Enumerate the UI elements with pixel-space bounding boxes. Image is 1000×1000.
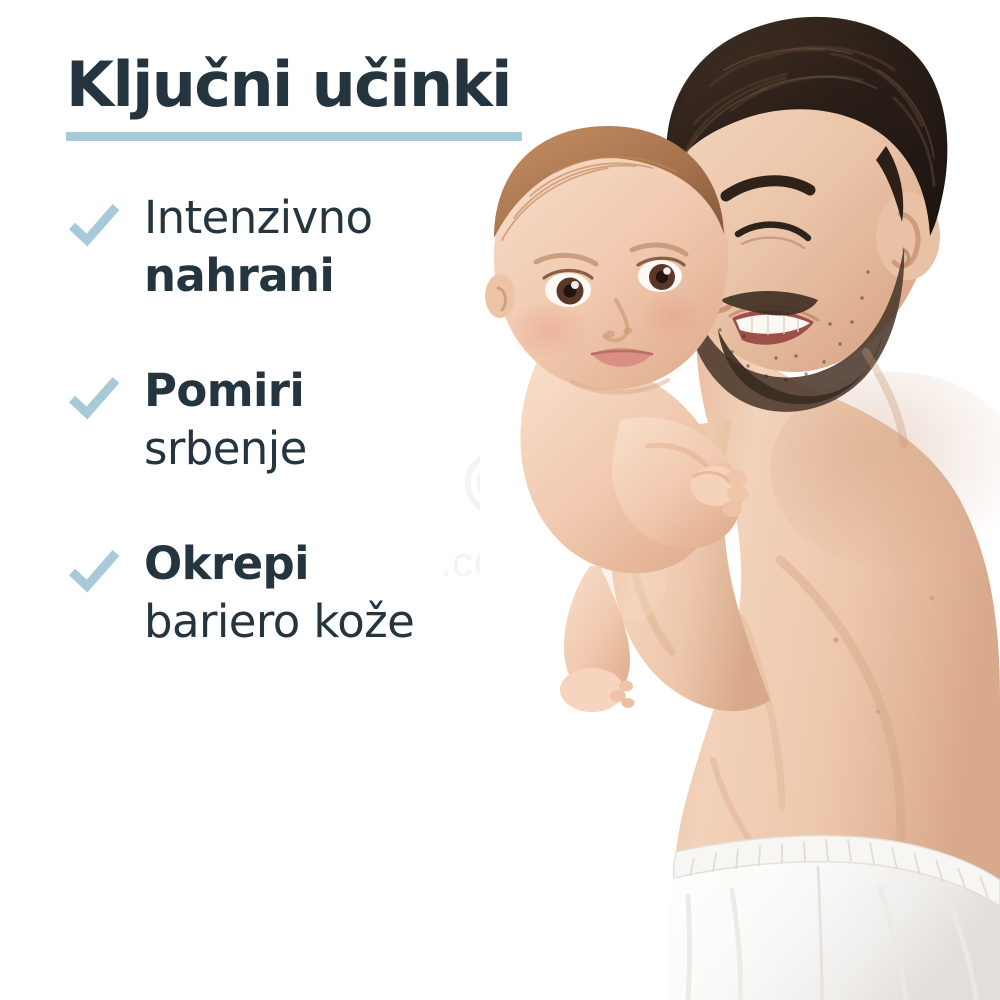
promo-poster: .com (0, 0, 1000, 1000)
list-item: Pomiri srbenje (66, 362, 560, 479)
list-item: Intenzivno nahrani (66, 189, 560, 306)
benefit-text: Pomiri srbenje (144, 362, 307, 479)
benefit-line-2: srbenje (144, 420, 307, 479)
headline-underline (66, 132, 522, 141)
benefits-list: Intenzivno nahrani Pomiri srbenje (66, 189, 560, 652)
man-shorts (666, 836, 1000, 1000)
page-title: Ključni učinki (66, 52, 560, 119)
benefit-text: Intenzivno nahrani (144, 189, 372, 306)
benefit-line-1: Okrepi (144, 535, 414, 594)
benefit-line-2: bariero kože (144, 593, 414, 652)
benefit-line-1: Pomiri (144, 362, 307, 421)
list-item: Okrepi bariero kože (66, 535, 560, 652)
check-icon (66, 370, 122, 426)
benefit-text: Okrepi bariero kože (144, 535, 414, 652)
check-icon (66, 543, 122, 599)
benefits-panel: Ključni učinki Intenzivno nahrani (0, 0, 560, 1000)
benefit-line-2: nahrani (144, 247, 372, 306)
benefit-line-1: Intenzivno (144, 189, 372, 248)
check-icon (66, 197, 122, 253)
